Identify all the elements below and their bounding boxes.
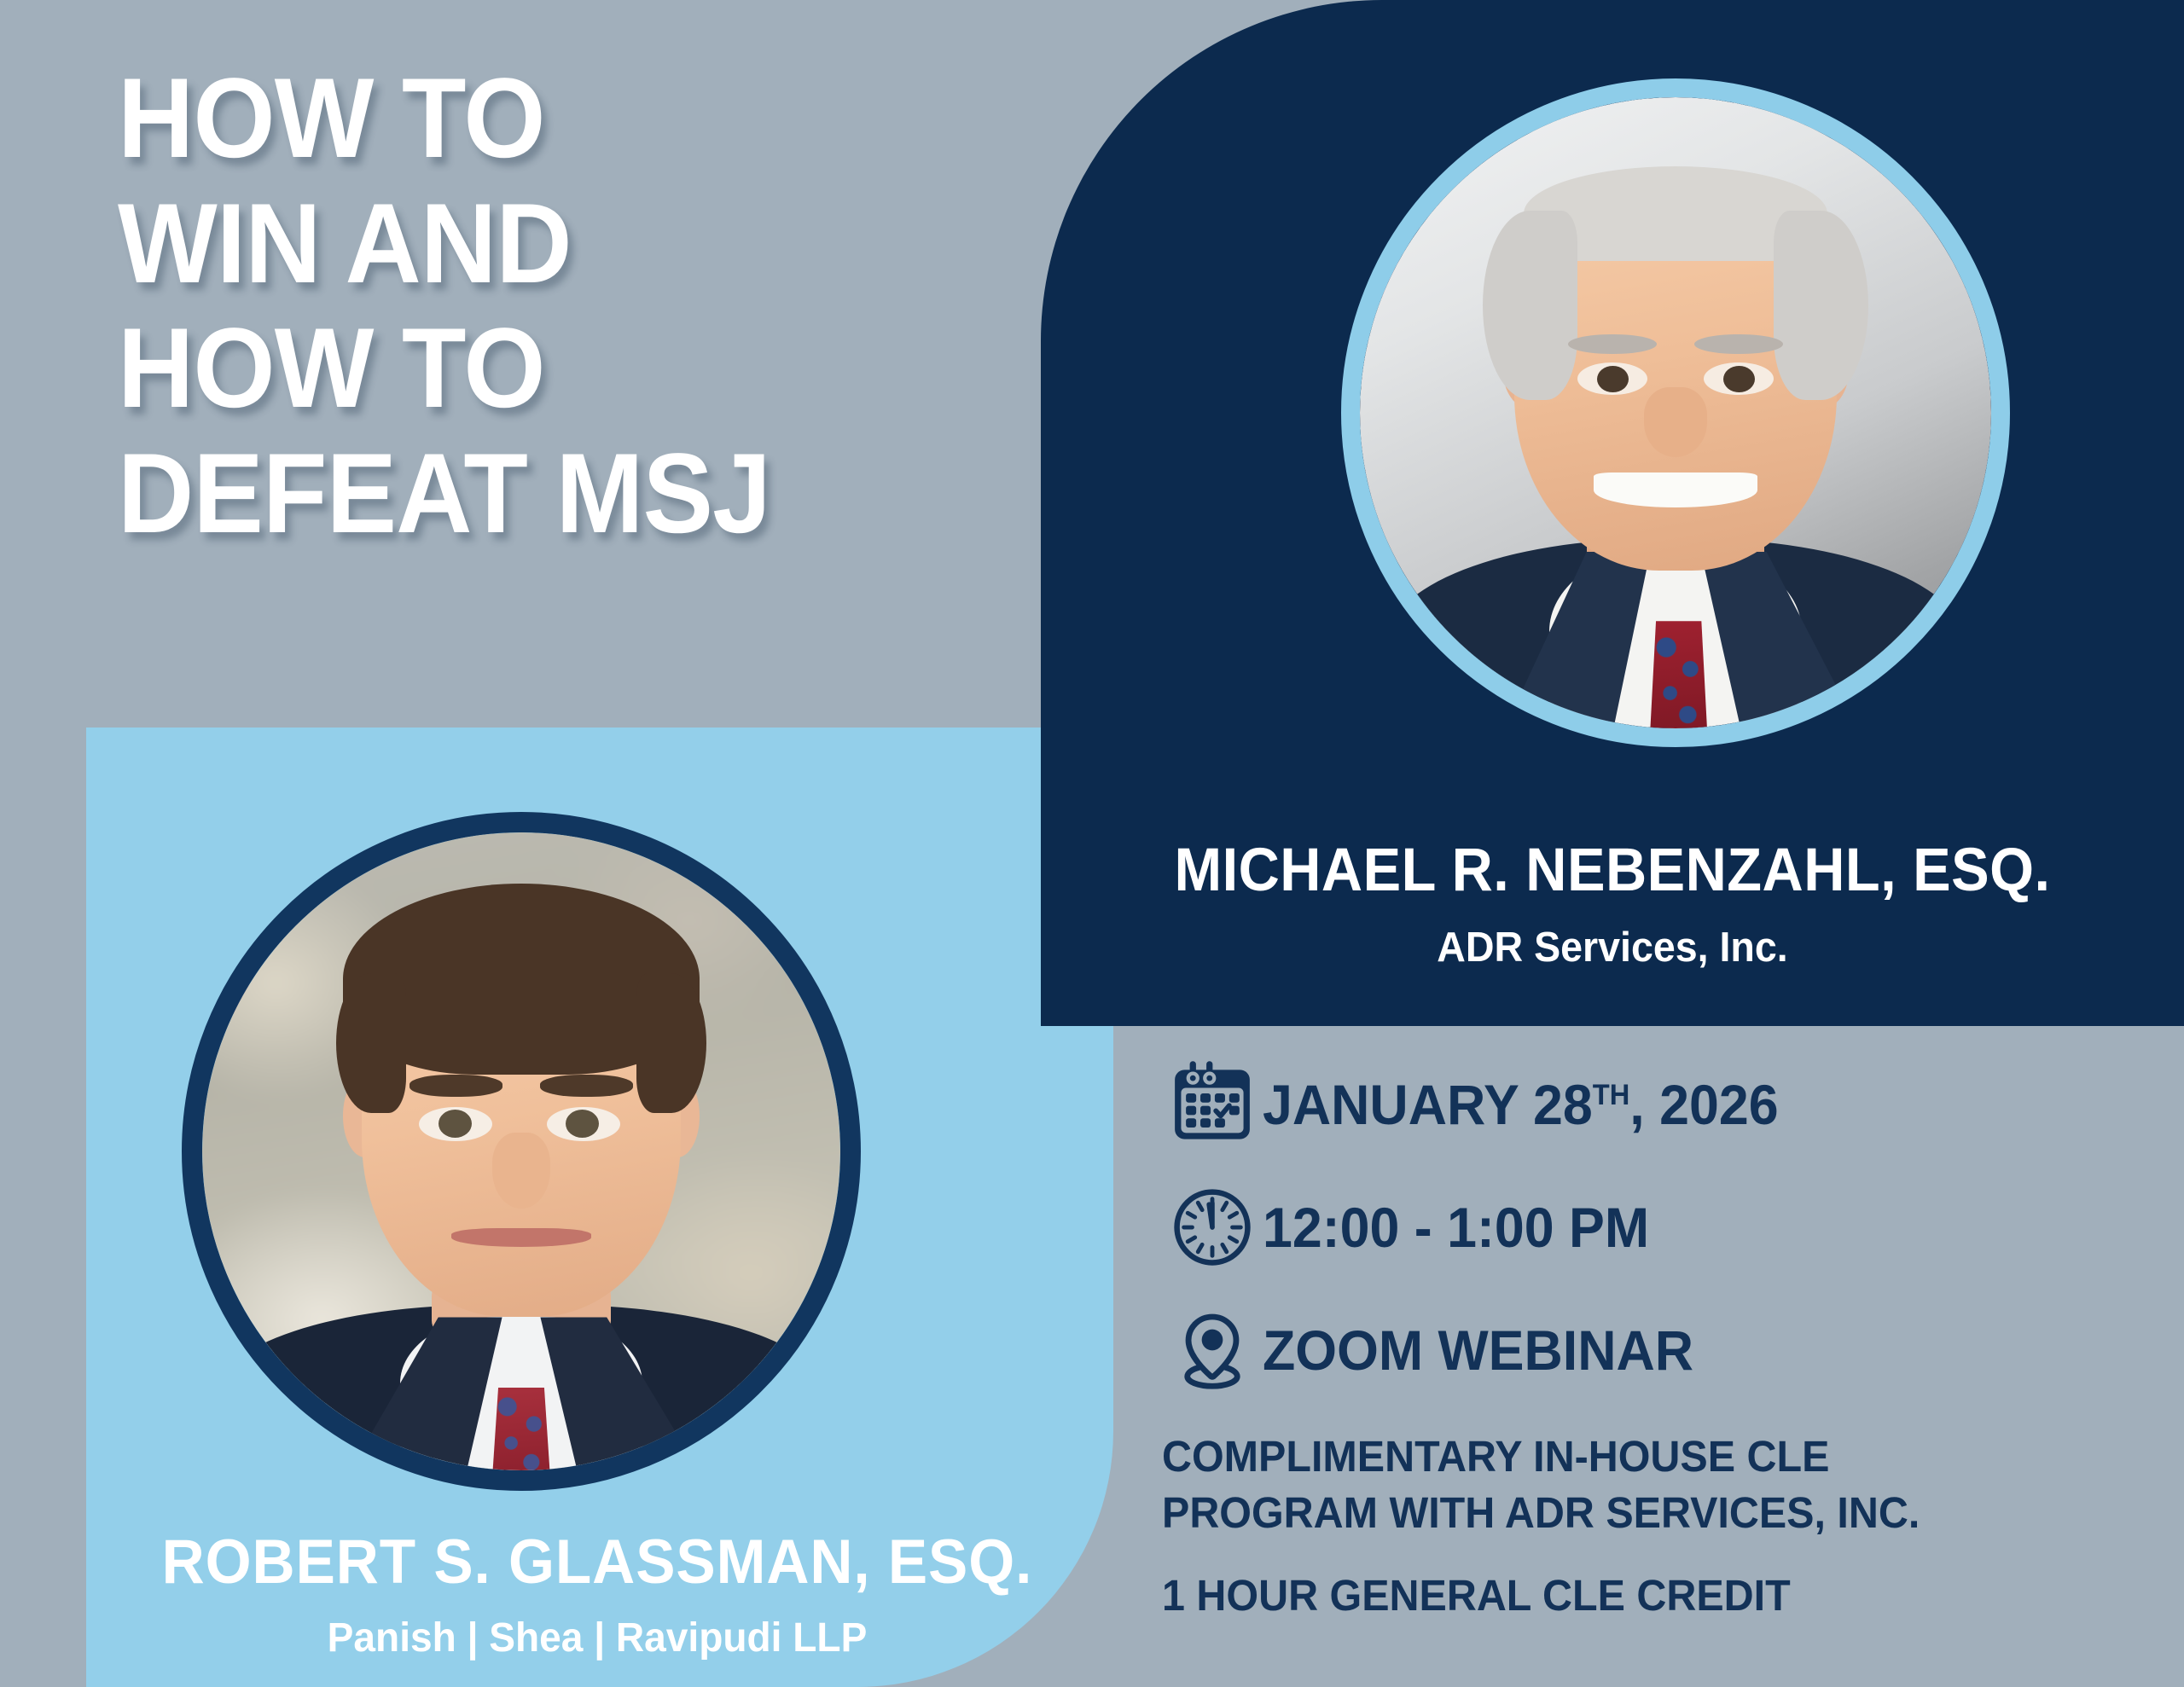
eyebrow-right xyxy=(540,1075,632,1096)
footer-line-2: PROGRAM WITH ADR SERVICES, INC. xyxy=(1162,1485,2094,1541)
eyebrow-left xyxy=(1568,334,1657,355)
calendar-icon xyxy=(1162,1060,1263,1149)
footer-note: COMPLIMENTARY IN-HOUSE CLE PROGRAM WITH … xyxy=(1162,1429,2143,1624)
webinar-flyer: HOW TO WIN AND HOW TO DEFEAT MSJ xyxy=(0,0,2184,1687)
avatar-michael xyxy=(1341,78,2010,747)
detail-text-time: 12:00 - 1:00 PM xyxy=(1263,1195,1649,1260)
detail-row-date: JANUARY 28TH, 2026 xyxy=(1162,1060,2143,1149)
pupil-left xyxy=(1597,366,1629,392)
eyebrow-left xyxy=(409,1075,502,1096)
hair-left xyxy=(336,973,406,1114)
clock-icon xyxy=(1162,1183,1263,1272)
date-ordinal: TH xyxy=(1593,1079,1629,1111)
speaker-name-michael: MICHAEL R. NEBENZAHL, ESQ. xyxy=(1091,836,2134,905)
necktie xyxy=(1647,621,1711,728)
mouth xyxy=(1594,472,1757,507)
title-line-3: HOW TO xyxy=(118,311,974,427)
hair-left xyxy=(1483,211,1577,400)
nose xyxy=(492,1133,549,1209)
title-line-1: HOW TO xyxy=(118,61,974,177)
pupil-right xyxy=(1723,366,1755,392)
detail-text-location: ZOOM WEBINAR xyxy=(1263,1318,1693,1383)
date-main: JANUARY 28 xyxy=(1263,1073,1593,1136)
speaker-name-robert: ROBERT S. GLASSMAN, ESQ. xyxy=(119,1527,1076,1597)
location-pin-icon xyxy=(1162,1306,1263,1394)
footer-line-1: COMPLIMENTARY IN-HOUSE CLE xyxy=(1162,1429,2094,1485)
flyer-title: HOW TO WIN AND HOW TO DEFEAT MSJ xyxy=(118,61,1039,562)
avatar-robert xyxy=(182,812,861,1491)
hair-right xyxy=(1774,211,1868,400)
eyebrow-right xyxy=(1694,334,1783,355)
speaker-affiliation-michael: ADR Services, Inc. xyxy=(1086,924,2140,971)
title-line-4: DEFEAT MSJ xyxy=(118,437,974,553)
nose xyxy=(1644,387,1707,456)
speaker-name-block-michael: MICHAEL R. NEBENZAHL, ESQ. ADR Services,… xyxy=(1058,836,2167,971)
necktie xyxy=(490,1388,554,1470)
detail-row-location: ZOOM WEBINAR xyxy=(1162,1306,2143,1394)
date-year: , 2026 xyxy=(1629,1073,1778,1136)
title-line-2: WIN AND xyxy=(118,187,974,303)
detail-row-time: 12:00 - 1:00 PM xyxy=(1162,1183,2143,1272)
hair-right xyxy=(636,973,706,1114)
speaker-affiliation-robert: Panish | Shea | Ravipudi LLP xyxy=(114,1615,1081,1661)
detail-text-date: JANUARY 28TH, 2026 xyxy=(1263,1072,1779,1137)
pupil-left xyxy=(439,1110,472,1138)
speaker-name-block-robert: ROBERT S. GLASSMAN, ESQ. Panish | Shea |… xyxy=(94,1527,1101,1661)
event-details: JANUARY 28TH, 2026 xyxy=(1162,1060,2143,1624)
footer-credit: 1 HOUR GENERAL CLE CREDIT xyxy=(1162,1568,2094,1624)
